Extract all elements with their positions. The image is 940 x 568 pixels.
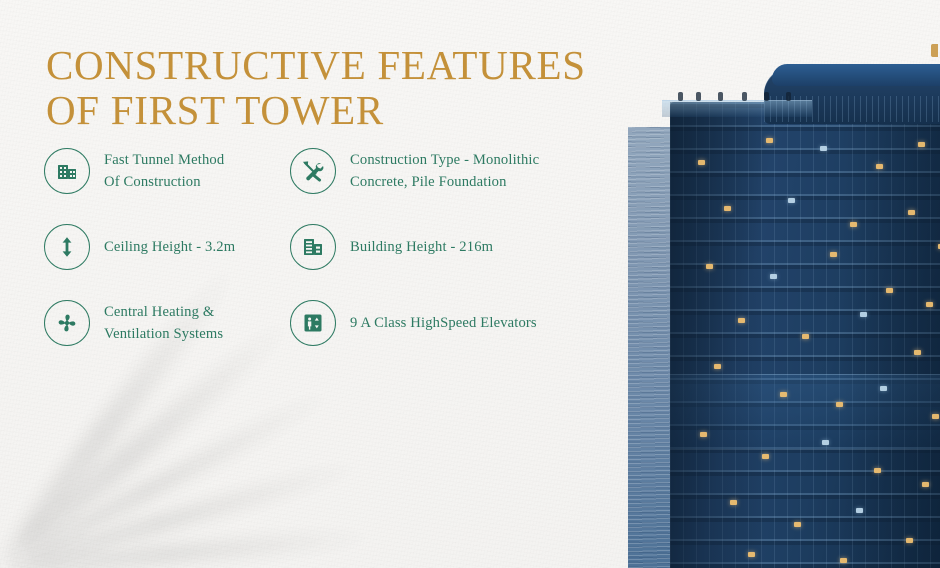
title-line-2: OF FIRST TOWER: [46, 88, 606, 133]
feature-label-line: Construction Type - Monolithic: [350, 149, 539, 171]
fan-icon: [44, 300, 90, 346]
elevator-icon: [290, 300, 336, 346]
tower-rooftop-terrace: [662, 100, 812, 117]
feature-item-construction-type: Construction Type - Monolithic Concrete,…: [290, 148, 536, 194]
feature-label: Central Heating & Ventilation Systems: [104, 301, 223, 345]
feature-label-line: Ceiling Height - 3.2m: [104, 236, 235, 258]
feature-item-fast-tunnel-method: Fast Tunnel Method Of Construction: [44, 148, 290, 194]
building-icon: [44, 148, 90, 194]
feature-label: Fast Tunnel Method Of Construction: [104, 149, 224, 193]
feature-row: Ceiling Height - 3.2m: [44, 224, 604, 270]
vertical-arrow-icon: [44, 224, 90, 270]
palm-leaf-shadow: [0, 308, 500, 568]
tower-body: [670, 102, 940, 568]
feature-label-line: 9 A Class HighSpeed Elevators: [350, 312, 537, 334]
feature-label-line: Concrete, Pile Foundation: [350, 171, 539, 193]
feature-item-ceiling-height: Ceiling Height - 3.2m: [44, 224, 290, 270]
tools-icon: [290, 148, 336, 194]
office-building-icon: [290, 224, 336, 270]
feature-label-line: Ventilation Systems: [104, 323, 223, 345]
feature-label-line: Building Height - 216m: [350, 236, 493, 258]
feature-item-central-heating: Central Heating & Ventilation Systems: [44, 300, 290, 346]
feature-label: Ceiling Height - 3.2m: [104, 236, 235, 258]
feature-row: Central Heating & Ventilation Systems 9 …: [44, 300, 604, 346]
feature-row: Fast Tunnel Method Of Construction Const…: [44, 148, 604, 194]
feature-item-elevators: 9 A Class HighSpeed Elevators: [290, 300, 536, 346]
feature-item-building-height: Building Height - 216m: [290, 224, 536, 270]
feature-label: 9 A Class HighSpeed Elevators: [350, 312, 537, 334]
feature-list: Fast Tunnel Method Of Construction Const…: [44, 148, 604, 346]
gold-accent-mark: [931, 44, 938, 57]
feature-label: Building Height - 216m: [350, 236, 493, 258]
slide: CONSTRUCTIVE FEATURES OF FIRST TOWER: [0, 0, 940, 568]
page-title: CONSTRUCTIVE FEATURES OF FIRST TOWER: [46, 43, 606, 133]
feature-label-line: Central Heating &: [104, 301, 223, 323]
tower-window-lights: [670, 102, 940, 568]
tower-crown-cap: [772, 64, 940, 86]
tower-illustration: [660, 60, 940, 568]
feature-label-line: Of Construction: [104, 171, 224, 193]
feature-label-line: Fast Tunnel Method: [104, 149, 224, 171]
title-line-1: CONSTRUCTIVE FEATURES: [46, 43, 606, 88]
feature-label: Construction Type - Monolithic Concrete,…: [350, 149, 539, 193]
